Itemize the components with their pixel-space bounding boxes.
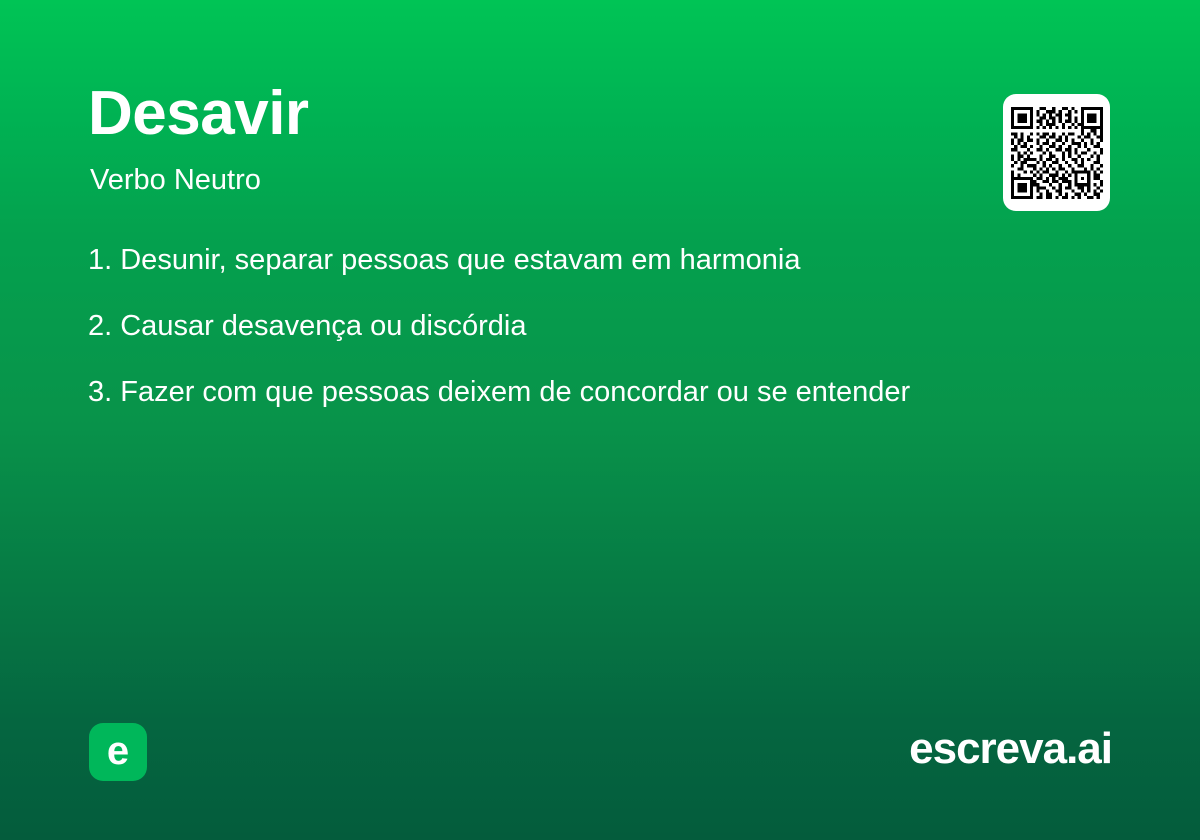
list-item: 2. Causar desavença ou discórdia: [88, 312, 1120, 341]
list-item: 1. Desunir, separar pessoas que estavam …: [88, 246, 1120, 275]
escreva-e-icon: e: [107, 731, 129, 771]
word-class-label: Verbo Neutro: [90, 166, 261, 195]
page-title: Desavir: [88, 83, 309, 145]
definition-card: Desavir Verbo Neutro 1. Desunir, separar…: [0, 0, 1200, 840]
qr-code-icon: [1011, 107, 1103, 199]
brand-logo-badge[interactable]: e: [89, 723, 147, 781]
definition-list: 1. Desunir, separar pessoas que estavam …: [88, 246, 1120, 407]
qr-code-card[interactable]: [1003, 94, 1110, 211]
list-item: 3. Fazer com que pessoas deixem de conco…: [88, 378, 1120, 407]
brand-wordmark[interactable]: escreva.ai: [909, 727, 1112, 771]
